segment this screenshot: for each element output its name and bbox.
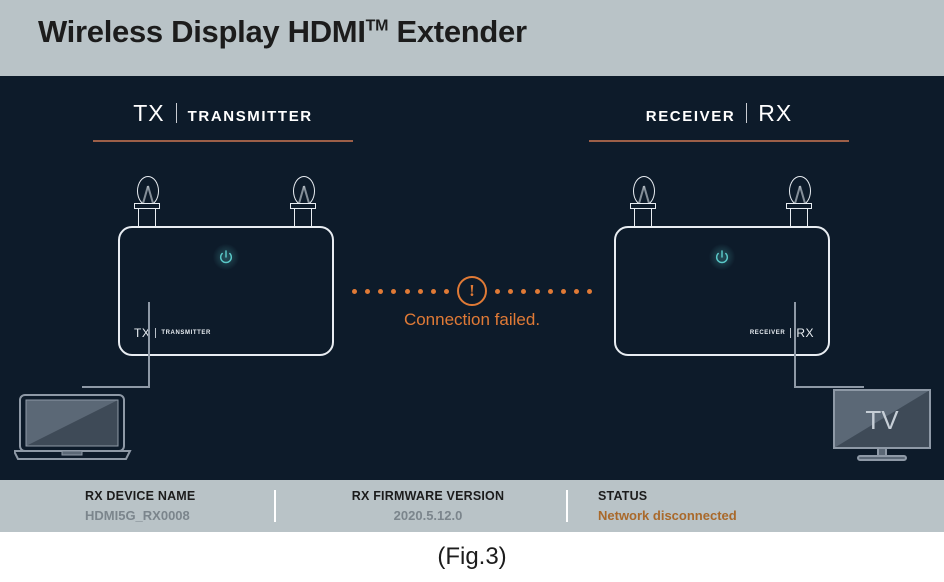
connection-link-area: ! Connection failed. [352, 268, 592, 338]
transmitter-name-label: TRANSMITTER [188, 108, 313, 125]
status-cell-status: STATUS Network disconnected [598, 489, 737, 523]
antenna-icon [286, 176, 320, 228]
transmitter-code-label: TX [133, 100, 164, 127]
receiver-sink-wire-vertical [794, 302, 798, 386]
status-separator [566, 490, 568, 522]
link-dot [405, 289, 410, 294]
receiver-code-label: RX [758, 100, 792, 127]
link-dot [444, 289, 449, 294]
page-title-main: Wireless Display HDMI [38, 14, 366, 49]
figure-caption: (Fig.3) [0, 532, 944, 582]
figure-root: Wireless Display HDMITM Extender TX TRAN… [0, 0, 944, 582]
tv-screen-label: TV [865, 405, 899, 435]
antenna-icon [130, 176, 164, 228]
antenna-loop [137, 176, 159, 206]
link-dot [365, 289, 370, 294]
link-dot [548, 289, 553, 294]
status-separator [274, 490, 276, 522]
link-dot [561, 289, 566, 294]
status-value: 2020.5.12.0 [338, 508, 518, 523]
laptop-icon [14, 391, 150, 463]
diagram-stage: TX TRANSMITTER RECEIVER RX [0, 76, 944, 480]
link-dot [431, 289, 436, 294]
alert-exclamation-glyph: ! [469, 282, 475, 299]
transmitter-chassis-name: TRANSMITTER [161, 330, 211, 336]
status-label: RX DEVICE NAME [85, 489, 195, 503]
link-dot [535, 289, 540, 294]
status-cell-firmware-version: RX FIRMWARE VERSION 2020.5.12.0 [338, 489, 518, 523]
receiver-chassis-label: RECEIVER RX [750, 326, 814, 340]
transmitter-heading-rule [93, 140, 353, 142]
status-badge: Network disconnected [598, 508, 737, 523]
link-dot [574, 289, 579, 294]
receiver-name-label: RECEIVER [646, 108, 736, 125]
trademark-mark: TM [366, 18, 389, 35]
tv-icon: TV [832, 388, 932, 464]
antenna-icon [782, 176, 816, 228]
chassis-label-divider [790, 328, 791, 338]
transmitter-section-heading: TX TRANSMITTER [93, 100, 353, 152]
heading-divider [746, 103, 747, 123]
status-bar: RX DEVICE NAME HDMI5G_RX0008 RX FIRMWARE… [0, 480, 944, 532]
transmitter-chassis-label: TX TRANSMITTER [134, 326, 211, 340]
antenna-loop [633, 176, 655, 206]
page-title-tail: Extender [388, 14, 527, 49]
link-dot [495, 289, 500, 294]
link-dot [508, 289, 513, 294]
transmitter-heading-labels: TX TRANSMITTER [93, 100, 353, 140]
alert-exclamation-icon: ! [457, 276, 487, 306]
power-icon [213, 244, 239, 270]
receiver-heading-labels: RECEIVER RX [589, 100, 849, 140]
receiver-heading-rule [589, 140, 849, 142]
antenna-loop [789, 176, 811, 206]
power-icon [709, 244, 735, 270]
page-header: Wireless Display HDMITM Extender [0, 0, 944, 76]
link-dot [418, 289, 423, 294]
link-dot [391, 289, 396, 294]
receiver-section-heading: RECEIVER RX [589, 100, 849, 152]
chassis-label-divider [155, 328, 156, 338]
status-value: HDMI5G_RX0008 [85, 508, 195, 523]
page-title: Wireless Display HDMITM Extender [38, 14, 527, 50]
link-dot [378, 289, 383, 294]
transmitter-source-wire [82, 384, 150, 388]
link-dot [587, 289, 592, 294]
figure-caption-text: (Fig.3) [437, 543, 506, 571]
status-label: STATUS [598, 489, 737, 503]
transmitter-source-wire-vertical [148, 302, 152, 386]
status-label: RX FIRMWARE VERSION [338, 489, 518, 503]
connection-status-message: Connection failed. [352, 310, 592, 330]
link-dot [521, 289, 526, 294]
antenna-icon [626, 176, 660, 228]
antenna-loop [293, 176, 315, 206]
heading-divider [176, 103, 177, 123]
status-cell-device-name: RX DEVICE NAME HDMI5G_RX0008 [85, 489, 195, 523]
receiver-chassis-code: RX [796, 326, 814, 340]
connection-dots: ! [352, 278, 592, 304]
link-dot [352, 289, 357, 294]
receiver-chassis-name: RECEIVER [750, 330, 785, 336]
